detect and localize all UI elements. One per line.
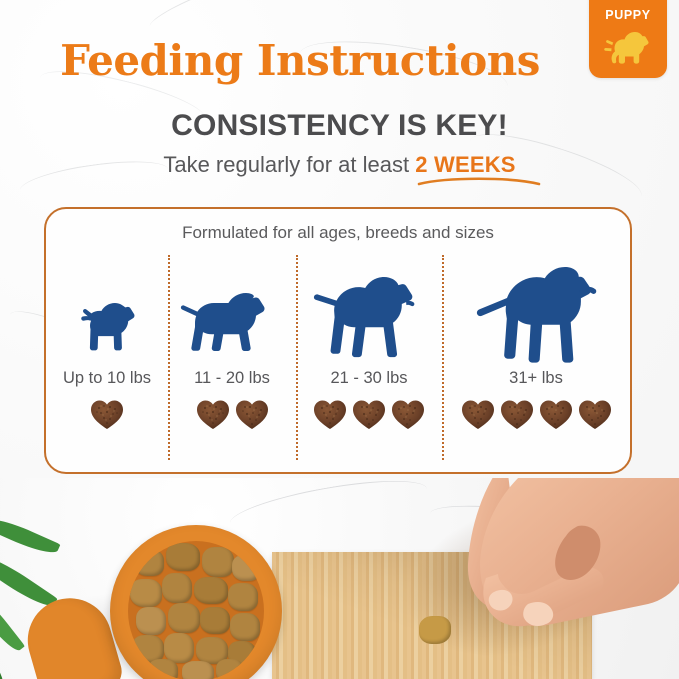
feeding-instructions-infographic: PUPPY Feeding Instructions CONSISTENCY I…: [0, 0, 679, 679]
dog-illustration: [180, 255, 284, 363]
heart-treat-icon: [89, 398, 125, 431]
puppy-badge: PUPPY: [589, 0, 667, 78]
hand-holding-kibble: [432, 478, 679, 668]
held-kibble-piece: [419, 616, 451, 644]
treat-count: [312, 398, 426, 431]
medium-small-dog-silhouette-icon: [180, 283, 284, 363]
bowl-interior: [128, 541, 264, 679]
treat-count: [460, 398, 613, 431]
marble-vein: [227, 478, 430, 542]
page-title: Feeding Instructions: [0, 36, 600, 85]
heart-treat-icon: [577, 398, 613, 431]
feeding-chart-card: Formulated for all ages, breeds and size…: [44, 207, 632, 474]
heart-treat-icon: [351, 398, 387, 431]
treat-count: [195, 398, 270, 431]
heart-treat-icon: [538, 398, 574, 431]
underline-swoosh-icon: [417, 175, 541, 186]
size-label: 31+ lbs: [509, 369, 563, 388]
heart-treat-icon: [499, 398, 535, 431]
subheading: CONSISTENCY IS KEY!: [0, 109, 679, 143]
small-puppy-silhouette-icon: [67, 291, 147, 363]
heart-treat-icon: [312, 398, 348, 431]
puppy-dog-icon: [601, 26, 655, 70]
treat-count: [89, 398, 125, 431]
puppy-badge-label: PUPPY: [589, 8, 667, 22]
card-caption: Formulated for all ages, breeds and size…: [46, 223, 630, 243]
size-column-21-30: 21 - 30 lbs: [296, 255, 442, 470]
size-label: 21 - 30 lbs: [330, 369, 407, 388]
heart-treat-icon: [234, 398, 270, 431]
tagline-emphasis: 2 WEEKS: [415, 152, 515, 177]
heart-treat-icon: [460, 398, 496, 431]
marble-vein: [146, 0, 265, 36]
large-dog-silhouette-icon: [473, 265, 599, 363]
size-label: 11 - 20 lbs: [194, 369, 270, 388]
dog-illustration: [67, 255, 147, 363]
size-columns: Up to 10 lbs: [46, 255, 630, 470]
size-column-11-20: 11 - 20 lbs: [168, 255, 296, 470]
tagline: Take regularly for at least 2 WEEKS: [0, 152, 679, 178]
size-column-up-to-10: Up to 10 lbs: [46, 255, 168, 470]
heart-treat-icon: [195, 398, 231, 431]
size-label: Up to 10 lbs: [63, 369, 151, 388]
dog-illustration: [310, 255, 428, 363]
heart-treat-icon: [390, 398, 426, 431]
dog-illustration: [473, 255, 599, 363]
size-column-31-plus: 31+ lbs: [442, 255, 630, 470]
medium-large-dog-silhouette-icon: [310, 273, 428, 363]
tagline-prefix: Take regularly for at least: [163, 152, 409, 177]
